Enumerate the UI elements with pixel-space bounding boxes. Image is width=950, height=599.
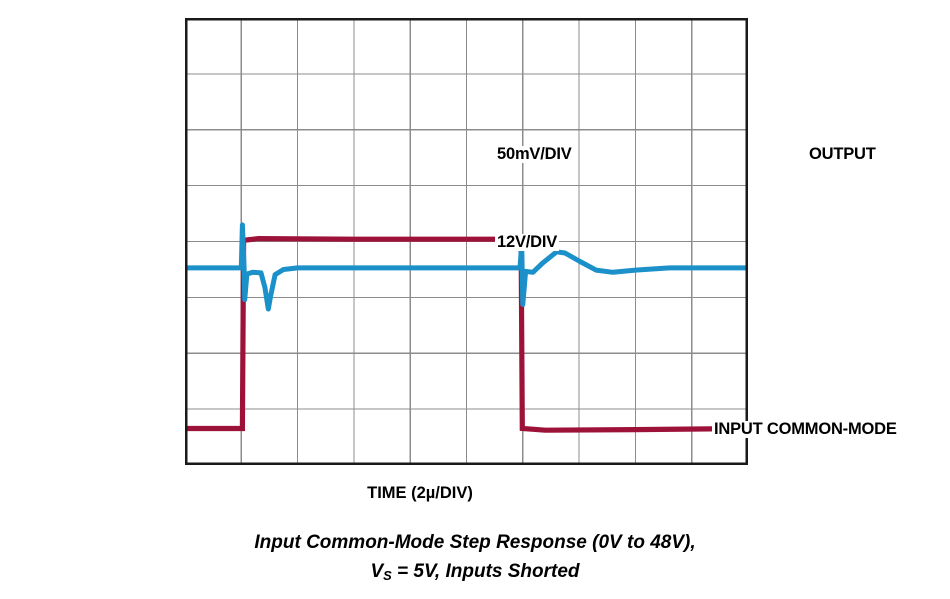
caption-vs-subscript: S [383,568,392,583]
caption-line-2: VS = 5V, Inputs Shorted [0,557,950,586]
caption-conditions: = 5V, Inputs Shorted [392,561,580,582]
output-trace-label: OUTPUT [807,146,878,163]
figure-container: 50mV/DIV 12V/DIV OUTPUT INPUT COMMON-MOD… [0,0,950,599]
output-scale-label: 50mV/DIV [495,146,574,163]
input-common-mode-trace-label: INPUT COMMON-MODE [712,421,899,438]
oscilloscope-plot: 50mV/DIV 12V/DIV OUTPUT INPUT COMMON-MOD… [185,18,748,465]
x-axis-label-text: TIME (2µ/DIV) [367,484,473,502]
x-axis-label: TIME (2µ/DIV) [0,484,950,503]
input-scale-label: 12V/DIV [495,234,559,251]
figure-caption: Input Common-Mode Step Response (0V to 4… [0,528,950,587]
plot-svg [185,18,748,465]
caption-line-1: Input Common-Mode Step Response (0V to 4… [0,528,950,557]
caption-vs-symbol: V [370,561,383,582]
